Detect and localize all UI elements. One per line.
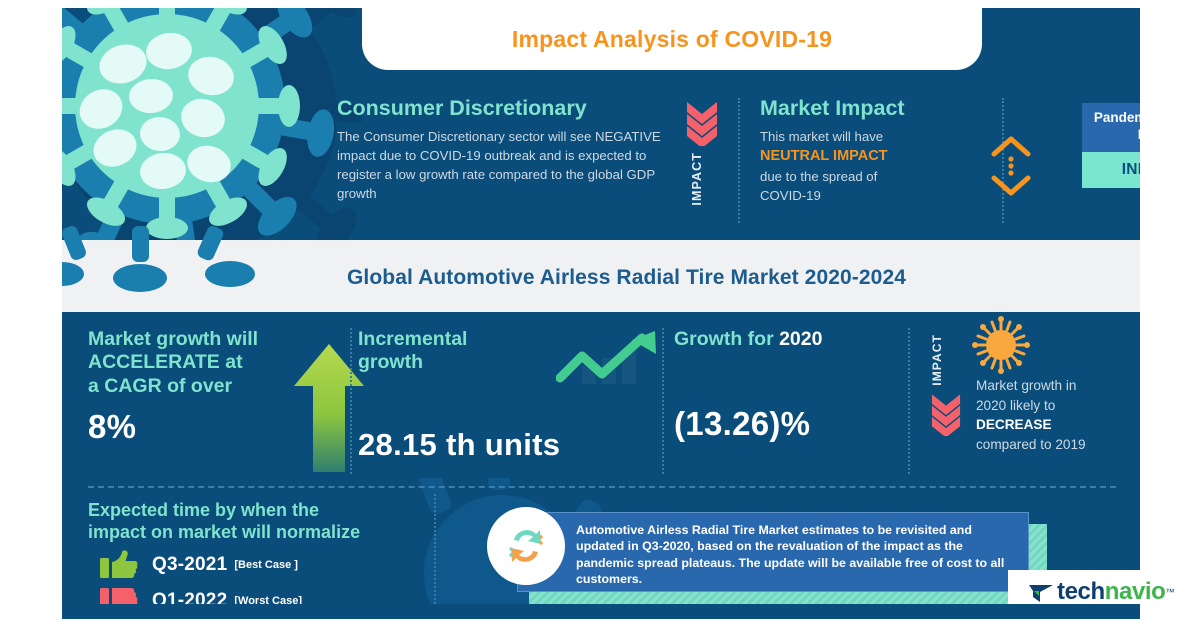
thumbs-up-icon — [100, 550, 138, 580]
pandemic-impact-value: INDIRECT — [1082, 152, 1140, 188]
infographic-root: Impact Analysis of COVID-19 — [0, 0, 1200, 627]
market-impact-line-4: COVID-19 — [760, 186, 975, 205]
technavio-mark-icon — [1028, 580, 1054, 604]
expected-best-case: [Best Case ] — [234, 559, 298, 571]
bottom-divider — [434, 494, 436, 612]
logo-text-part-2: navio — [1105, 578, 1166, 605]
impact-label: IMPACT — [690, 152, 704, 206]
metric-divider-2 — [662, 328, 664, 474]
market-impact-block: Market Impact This market will have NEUT… — [760, 96, 975, 205]
consumer-discretionary-block: Consumer Discretionary The Consumer Disc… — [337, 96, 667, 203]
logo-text-part-1: tech — [1057, 578, 1105, 605]
up-arrow-icon — [293, 342, 365, 472]
metric-impact-line-2: 2020 likely to — [976, 396, 1140, 416]
market-impact-line-3: due to the spread of — [760, 167, 975, 186]
consumer-heading: Consumer Discretionary — [337, 96, 667, 121]
neutral-impact-icon — [990, 135, 1032, 197]
metric-growth-year: 2020 — [779, 328, 822, 350]
chevron-down-stack — [682, 100, 722, 146]
metrics-row: Market growth will ACCELERATE at a CAGR … — [62, 312, 1140, 488]
pandemic-impact-box: Pandemic Impact on Market INDIRECT — [1082, 103, 1140, 188]
growth-chart-icon — [556, 330, 662, 386]
callout-wrapper: Automotive Airless Radial Tire Market es… — [517, 512, 1047, 604]
technavio-logo[interactable]: technavio ™ — [1028, 578, 1174, 606]
metric-growth-value: (13.26)% — [674, 405, 904, 443]
page-title: Impact Analysis of COVID-19 — [512, 26, 832, 53]
metric-incremental-value: 28.15 th units — [358, 427, 658, 463]
pandemic-impact-label: Pandemic Impact on Market — [1082, 103, 1140, 152]
metric-cagr: Market growth will ACCELERATE at a CAGR … — [88, 312, 350, 488]
consumer-body: The Consumer Discretionary sector will s… — [337, 127, 667, 204]
callout-box: Automotive Airless Radial Tire Market es… — [517, 512, 1029, 592]
main-panel: Impact Analysis of COVID-19 — [62, 8, 1140, 619]
metric-divider-1 — [350, 328, 352, 474]
refresh-icon — [500, 520, 552, 572]
horizontal-divider — [88, 486, 1116, 488]
virus-icon — [972, 316, 1030, 374]
refresh-badge — [487, 507, 565, 585]
expected-heading-1: Expected time by when the — [88, 500, 428, 522]
chevron-down-icon — [931, 392, 961, 436]
header-divider-1 — [738, 98, 740, 223]
metric-divider-3 — [908, 328, 910, 474]
metric-incremental-growth: Incremental growth 28.15 th units — [358, 312, 658, 488]
bottom-bar — [62, 604, 1140, 619]
metric-impact-line-4: compared to 2019 — [976, 435, 1140, 455]
callout-text: Automotive Airless Radial Tire Market es… — [576, 522, 1016, 588]
metric-growth-2020: Growth for 2020 (13.26)% — [674, 312, 904, 488]
metric-impact-line-1: Market growth in — [976, 376, 1140, 396]
expected-heading-2: impact on market will normalize — [88, 522, 428, 544]
market-impact-line-1: This market will have — [760, 127, 975, 146]
expected-row-best: Q3-2021 [Best Case ] — [88, 550, 428, 580]
impact-indicator-header: IMPACT — [682, 100, 722, 230]
logo-trademark: ™ — [1165, 587, 1174, 597]
expected-time-block: Expected time by when the impact on mark… — [88, 500, 428, 616]
chevron-down-icon — [686, 100, 718, 146]
expected-best-quarter: Q3-2021 — [152, 554, 227, 576]
metric-impact-label: IMPACT — [930, 334, 944, 386]
virus-foot-shapes — [62, 226, 322, 306]
metric-impact-decrease: IMPACT — [924, 312, 1140, 488]
title-plate: Impact Analysis of COVID-19 — [362, 8, 982, 70]
report-title: Global Automotive Airless Radial Tire Ma… — [347, 266, 906, 290]
market-impact-heading: Market Impact — [760, 96, 975, 121]
metric-growth-label: Growth for — [674, 328, 779, 350]
metric-impact-line-3: DECREASE — [976, 415, 1140, 435]
market-impact-line-2: NEUTRAL IMPACT — [760, 146, 975, 167]
